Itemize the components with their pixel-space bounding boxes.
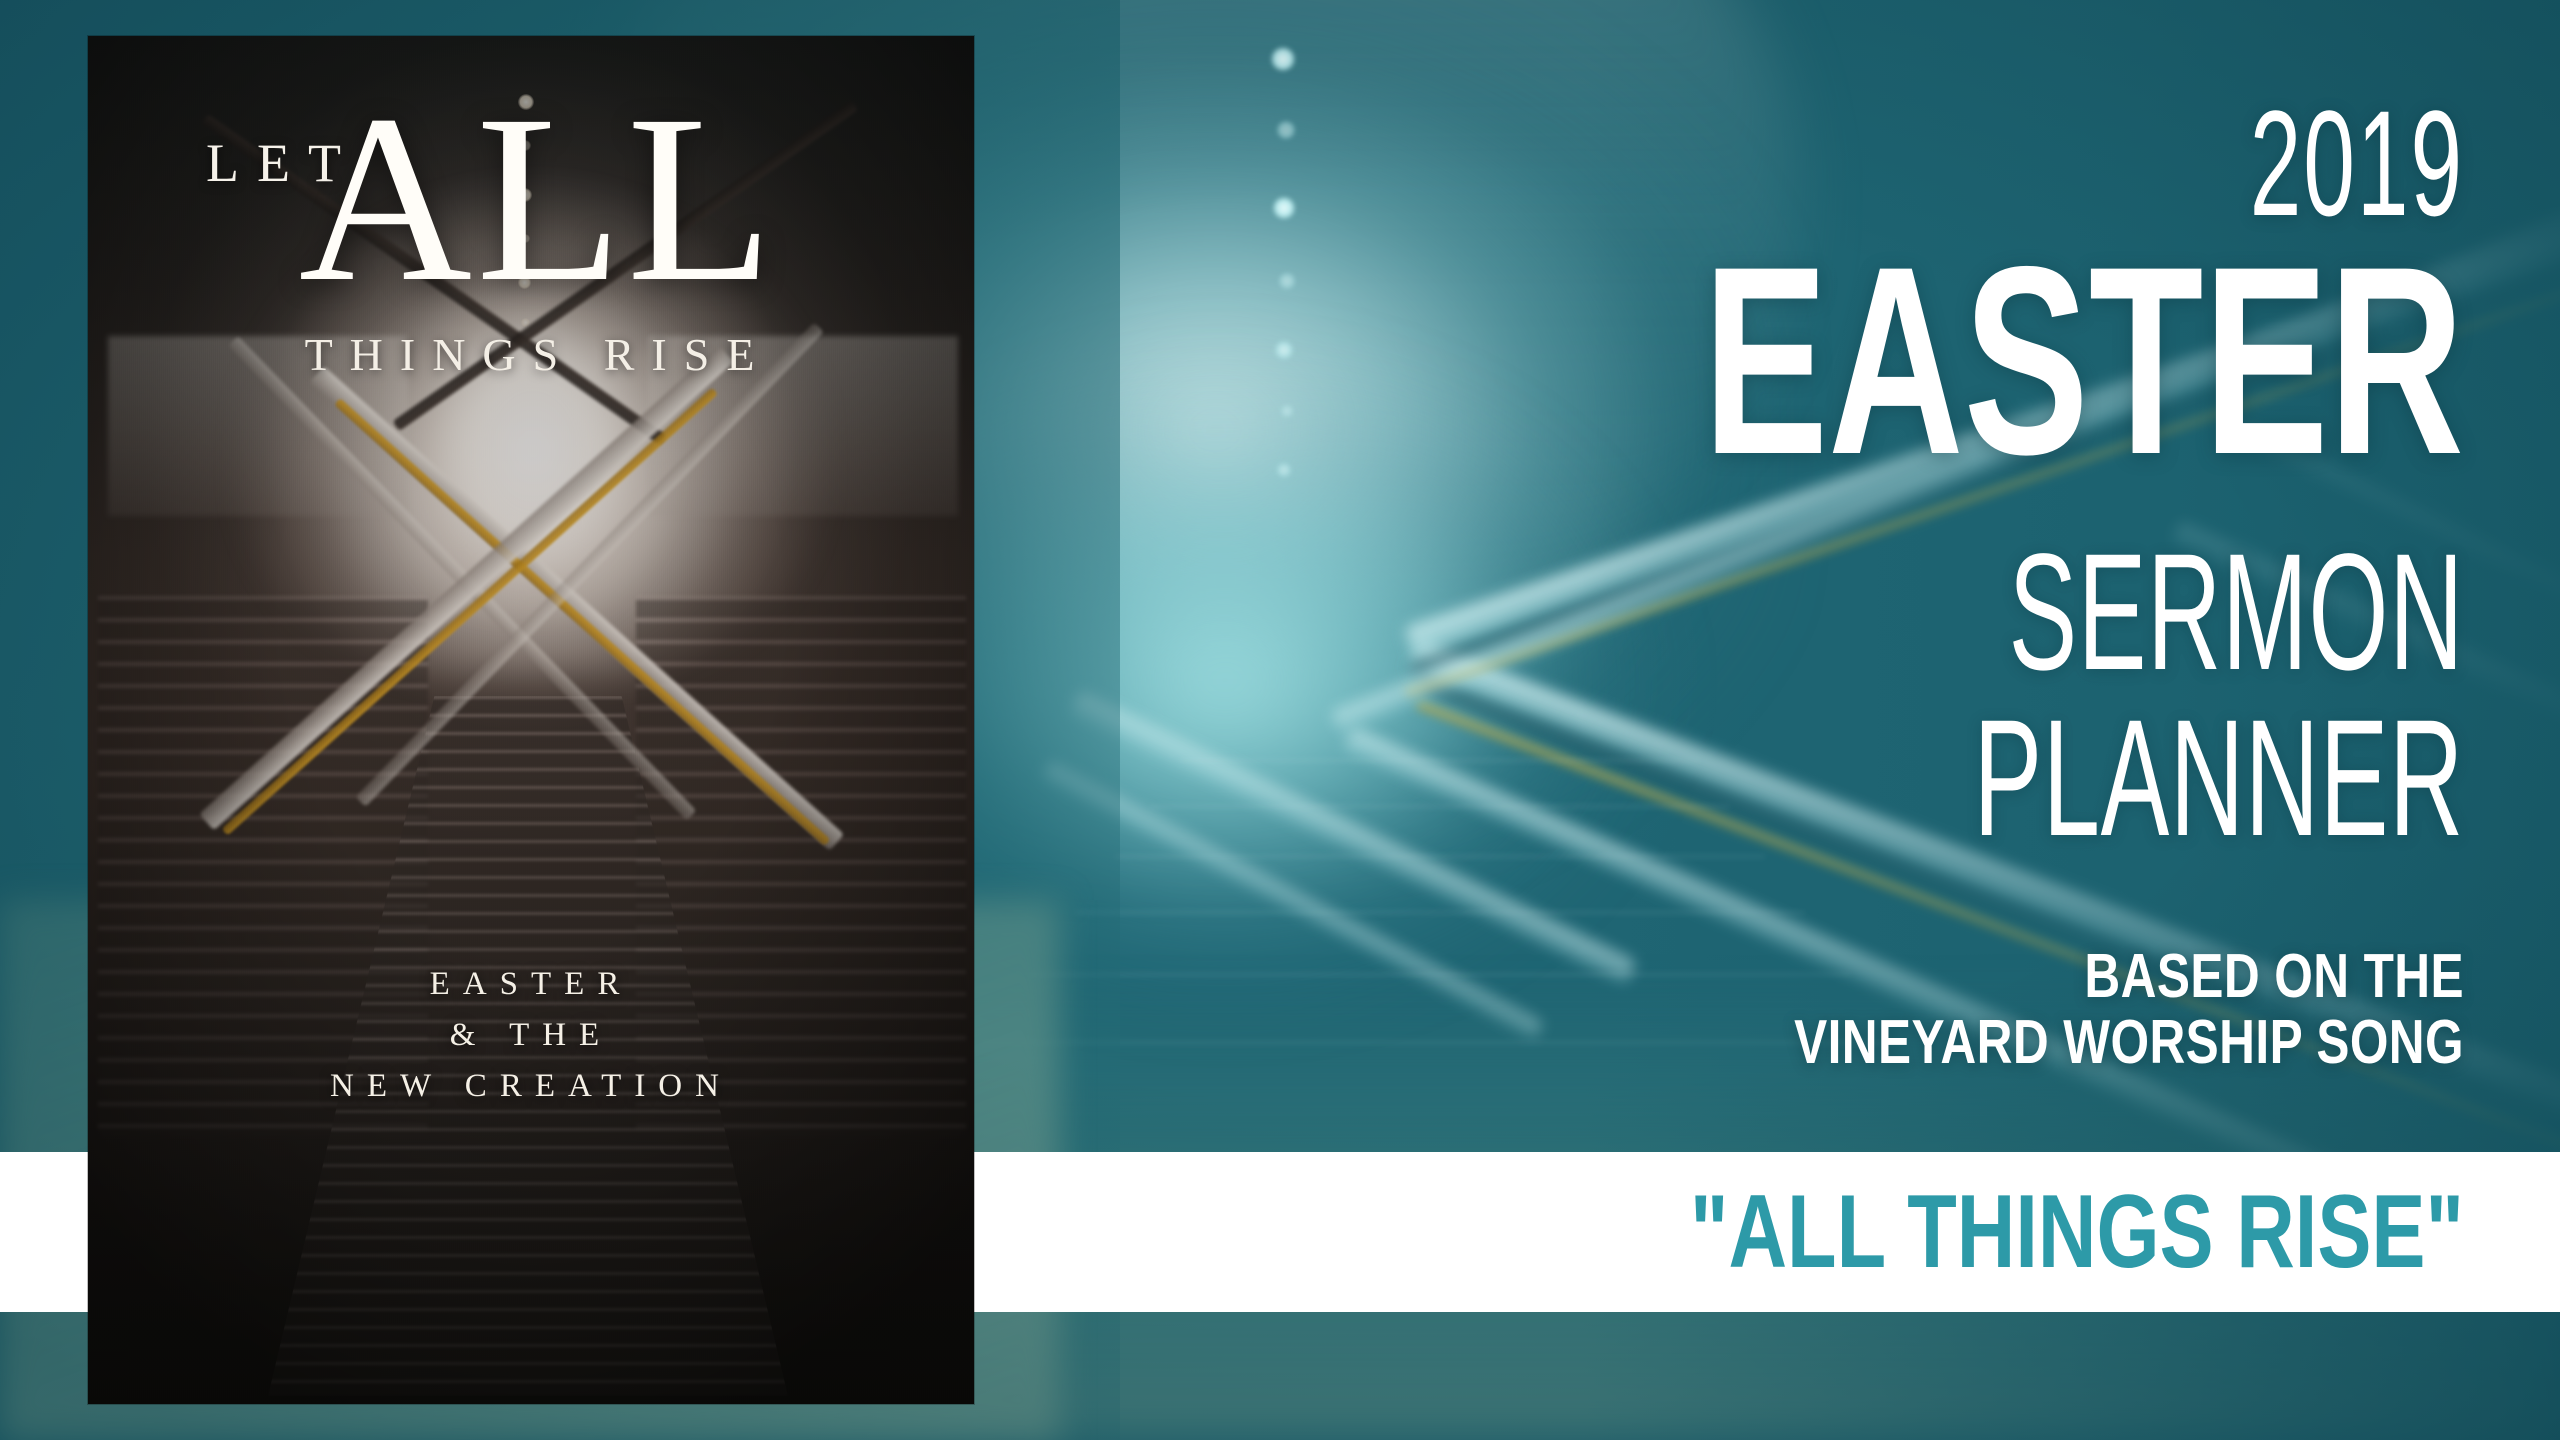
poster-typography: LET ALL THINGS RISE EASTER & THE NEW CRE…	[88, 36, 974, 1404]
easter-sermon-planner-banner: LET ALL THINGS RISE EASTER & THE NEW CRE…	[0, 0, 2560, 1440]
poster-thumbnail[interactable]: LET ALL THINGS RISE EASTER & THE NEW CRE…	[88, 36, 974, 1404]
poster-footer-line-3: NEW CREATION	[148, 1068, 914, 1105]
poster-footer-line-2: & THE	[148, 1017, 914, 1054]
poster-headline-large: ALL	[258, 78, 818, 318]
poster-footer-line-1: EASTER	[148, 966, 914, 1003]
poster-headline-sub: THINGS RISE	[198, 328, 878, 381]
poster-footer: EASTER & THE NEW CREATION	[148, 966, 914, 1105]
